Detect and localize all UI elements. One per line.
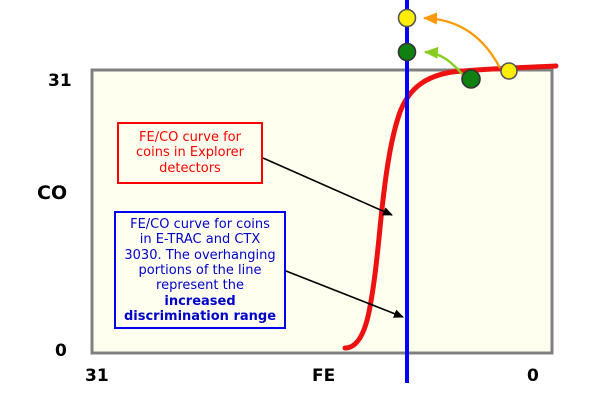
y-axis-tick-top: 31 [48, 73, 72, 90]
x-axis-tick-right: 0 [527, 368, 539, 385]
chart-graphics-layer [0, 0, 610, 412]
red-callout-line-1: FE/CO curve for [123, 130, 257, 145]
blue-callout-box: FE/CO curve for coins in E-TRAC and CTX … [114, 211, 286, 329]
orange-projection-arrow [424, 18, 500, 68]
blue-callout-line-4: portions of the line [119, 263, 281, 278]
blue-callout-line-5: represent the [119, 278, 281, 293]
x-axis-tick-left: 31 [85, 368, 109, 385]
y-axis-tick-bottom: 0 [55, 343, 67, 360]
blue-callout-emphasis-line-2: discrimination range [119, 309, 281, 324]
blue-callout-line-2: in E-TRAC and CTX [119, 232, 281, 247]
yellow-marker-projected [399, 10, 416, 27]
blue-callout-line-1: FE/CO curve for coins [119, 217, 281, 232]
red-callout-box: FE/CO curve for coins in Explorer detect… [117, 122, 263, 184]
chart-canvas: 31 0 CO 31 0 FE FE/CO curve for coins in… [0, 0, 610, 412]
x-axis-title: FE [312, 368, 335, 385]
red-callout-line-2: coins in Explorer [123, 145, 257, 160]
red-callout-line-3: detectors [123, 161, 257, 176]
green-marker-on-curve [462, 70, 480, 88]
green-marker-projected [399, 44, 416, 61]
yellow-marker-on-curve [501, 63, 517, 79]
blue-callout-line-3: 3030. The overhanging [119, 248, 281, 263]
blue-callout-emphasis-line-1: increased [119, 294, 281, 309]
y-axis-title: CO [37, 184, 67, 203]
